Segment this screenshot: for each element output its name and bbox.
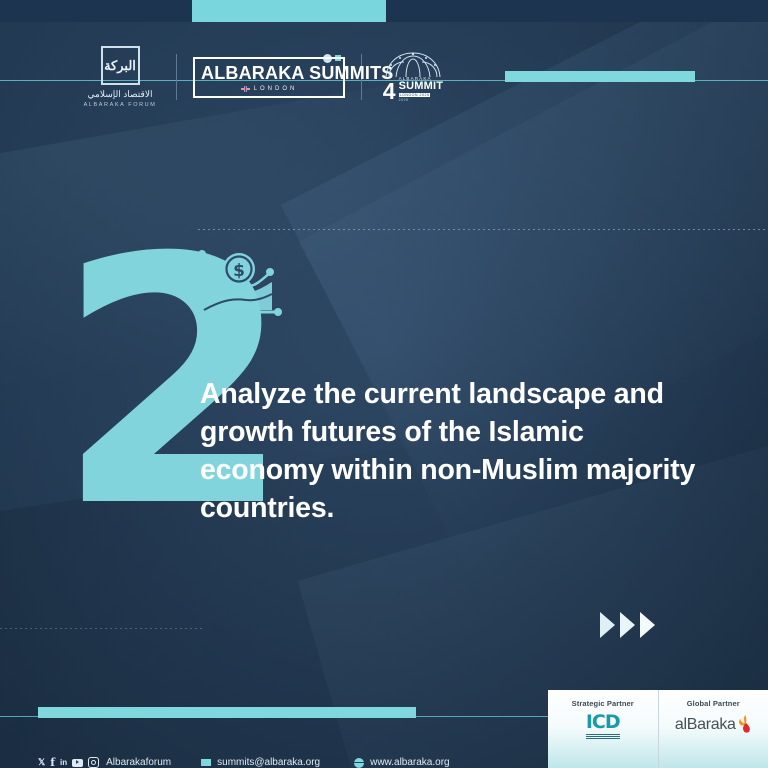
summits-subtitle-row: LONDON	[201, 86, 337, 92]
strategic-partner-label: Strategic Partner	[572, 699, 634, 708]
facebook-icon[interactable]: f	[50, 756, 55, 768]
logo-divider-1	[176, 54, 177, 100]
linkedin-icon[interactable]: in	[60, 758, 67, 767]
envelope-icon	[201, 759, 211, 766]
partners-card: Strategic Partner ICD Global Partner alB…	[548, 690, 768, 768]
chevron-2	[620, 612, 635, 638]
fourth-edition-number: 4	[383, 82, 396, 102]
youtube-icon[interactable]	[72, 759, 83, 767]
flame-drop-icon	[737, 715, 752, 734]
summits-title: ALBARAKA SUMMITS	[201, 64, 337, 82]
forum-arabic-name: الاقتصاد الإسلامي	[88, 89, 153, 100]
email-item[interactable]: summits@albaraka.org	[201, 757, 320, 768]
fourth-line2: SUMMIT	[399, 81, 444, 92]
logo-group: البركة الاقتصاد الإسلامي ALBARAKA FORUM …	[80, 46, 448, 108]
dotted-rule-bottom	[0, 628, 205, 629]
albaraka-forum-logo: البركة الاقتصاد الإسلامي ALBARAKA FORUM	[80, 46, 160, 108]
global-partner-label: Global Partner	[687, 699, 740, 708]
forum-arabic-mark: البركة	[101, 46, 140, 85]
website-item[interactable]: www.albaraka.org	[354, 757, 449, 768]
fourth-summit-logo: 4 ALBARAKA SUMMIT LONDON 2025 2025	[378, 52, 448, 102]
icd-logo-text: ICD	[586, 713, 620, 732]
albaraka-summits-logo: ALBARAKA SUMMITS LONDON	[193, 57, 345, 98]
email-text: summits@albaraka.org	[217, 757, 320, 768]
summits-frame: ALBARAKA SUMMITS LONDON	[193, 57, 345, 98]
top-accent-bar	[192, 0, 386, 22]
instagram-icon[interactable]	[88, 757, 99, 768]
slide-canvas: البركة الاقتصاد الإسلامي ALBARAKA FORUM …	[0, 0, 768, 768]
icd-logo-subtext	[586, 734, 620, 739]
chart-magnifier-dollar-icon: $	[192, 246, 286, 324]
uk-flag-icon	[241, 86, 250, 92]
icd-logo: ICD	[586, 713, 620, 739]
social-icon-group: 𝕏 f in	[38, 756, 99, 768]
strategic-partner-column: Strategic Partner ICD	[548, 690, 658, 768]
dome-arch-icon	[382, 52, 444, 78]
chevron-1	[600, 612, 615, 638]
headline-text: Analyze the current landscape and growth…	[200, 376, 700, 528]
svg-text:$: $	[233, 261, 245, 281]
triple-chevron-right-icon	[600, 612, 655, 638]
footer-contact-row: 𝕏 f in Albarakaforum summits@albaraka.or…	[38, 756, 484, 768]
fourth-logo-words: ALBARAKA SUMMIT LONDON 2025 2025	[399, 76, 444, 102]
albaraka-logo-text: alBaraka	[675, 717, 736, 733]
fourth-line4: 2025	[399, 98, 409, 102]
summits-location: LONDON	[254, 86, 298, 92]
albaraka-logo: alBaraka	[675, 715, 752, 734]
chevron-3	[640, 612, 655, 638]
x-twitter-icon[interactable]: 𝕏	[38, 757, 45, 768]
website-text: www.albaraka.org	[370, 757, 449, 768]
social-handle[interactable]: Albarakaforum	[106, 757, 171, 768]
fourth-line3: LONDON 2025	[399, 93, 431, 97]
header-accent-segment	[505, 71, 695, 82]
global-partner-column: Global Partner alBaraka	[658, 690, 768, 768]
globe-icon	[354, 758, 364, 768]
footer-accent-bar	[38, 707, 416, 718]
forum-english-name: ALBARAKA FORUM	[84, 102, 157, 108]
